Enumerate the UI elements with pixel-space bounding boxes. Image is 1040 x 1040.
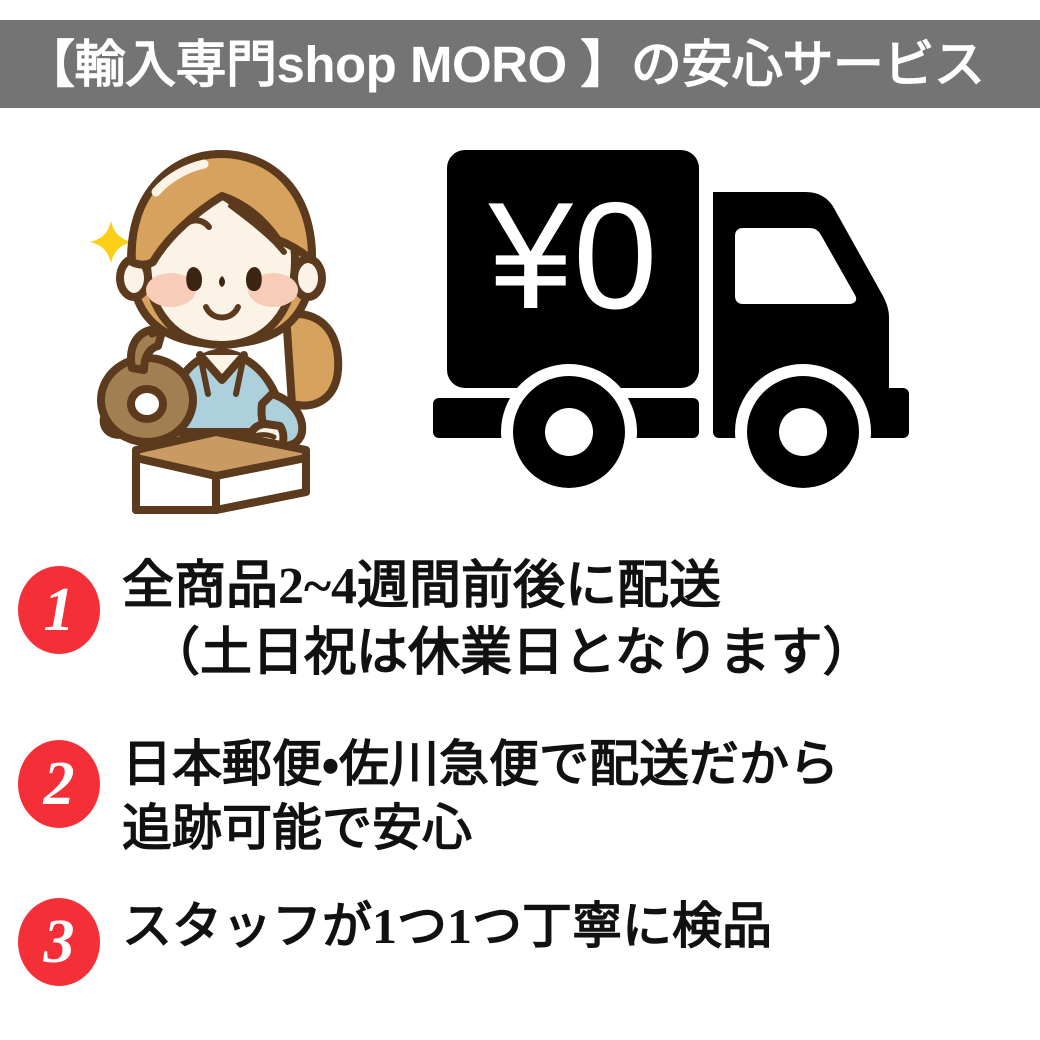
free-shipping-truck-icon: ¥0 — [425, 140, 985, 495]
list-item: 1 全商品2~4週間前後に配送 （土日祝は休業日となります） — [0, 548, 1040, 728]
feature-list: 1 全商品2~4週間前後に配送 （土日祝は休業日となります） 2 日本郵便・佐川… — [0, 548, 1040, 1018]
illustration-area: ¥0 — [0, 120, 1040, 530]
feature-line: 全商品2~4週間前後に配送 — [122, 554, 1040, 621]
cardboard-box-icon — [136, 432, 306, 510]
feature-line: （土日祝は休業日となります） — [122, 621, 1040, 688]
status-badge: 2 — [18, 740, 100, 828]
feature-line: 日本郵便・佐川急便で配送だから — [122, 732, 1040, 796]
page-title: 【輸入専門shop MORO 】の安心サービス — [0, 39, 984, 90]
free-shipping-truck-svg: ¥0 — [425, 140, 985, 490]
sparkle-icon — [90, 221, 132, 263]
feature-text: 日本郵便・佐川急便で配送だから 追跡可能で安心 — [100, 728, 1040, 860]
status-badge: 3 — [18, 898, 100, 986]
list-item: 3 スタッフが1つ1つ丁寧に検品 — [0, 888, 1040, 1018]
list-item: 2 日本郵便・佐川急便で配送だから 追跡可能で安心 — [0, 728, 1040, 888]
service-banner-page: 【輸入専門shop MORO 】の安心サービス — [0, 0, 1040, 1040]
status-badge: 1 — [18, 566, 100, 654]
feature-text: 全商品2~4週間前後に配送 （土日祝は休業日となります） — [100, 548, 1040, 687]
feature-line: 追跡可能で安心 — [122, 796, 1040, 860]
truck-cargo-label: ¥0 — [487, 171, 657, 341]
feature-text: スタッフが1つ1つ丁寧に検品 — [100, 888, 1040, 958]
header-banner: 【輸入専門shop MORO 】の安心サービス — [0, 20, 1040, 108]
tape-dispenser-icon — [101, 330, 193, 442]
woman-packing-box-illustration — [40, 132, 400, 527]
feature-line: スタッフが1つ1つ丁寧に検品 — [122, 894, 1040, 958]
woman-packing-box-svg — [40, 132, 400, 522]
